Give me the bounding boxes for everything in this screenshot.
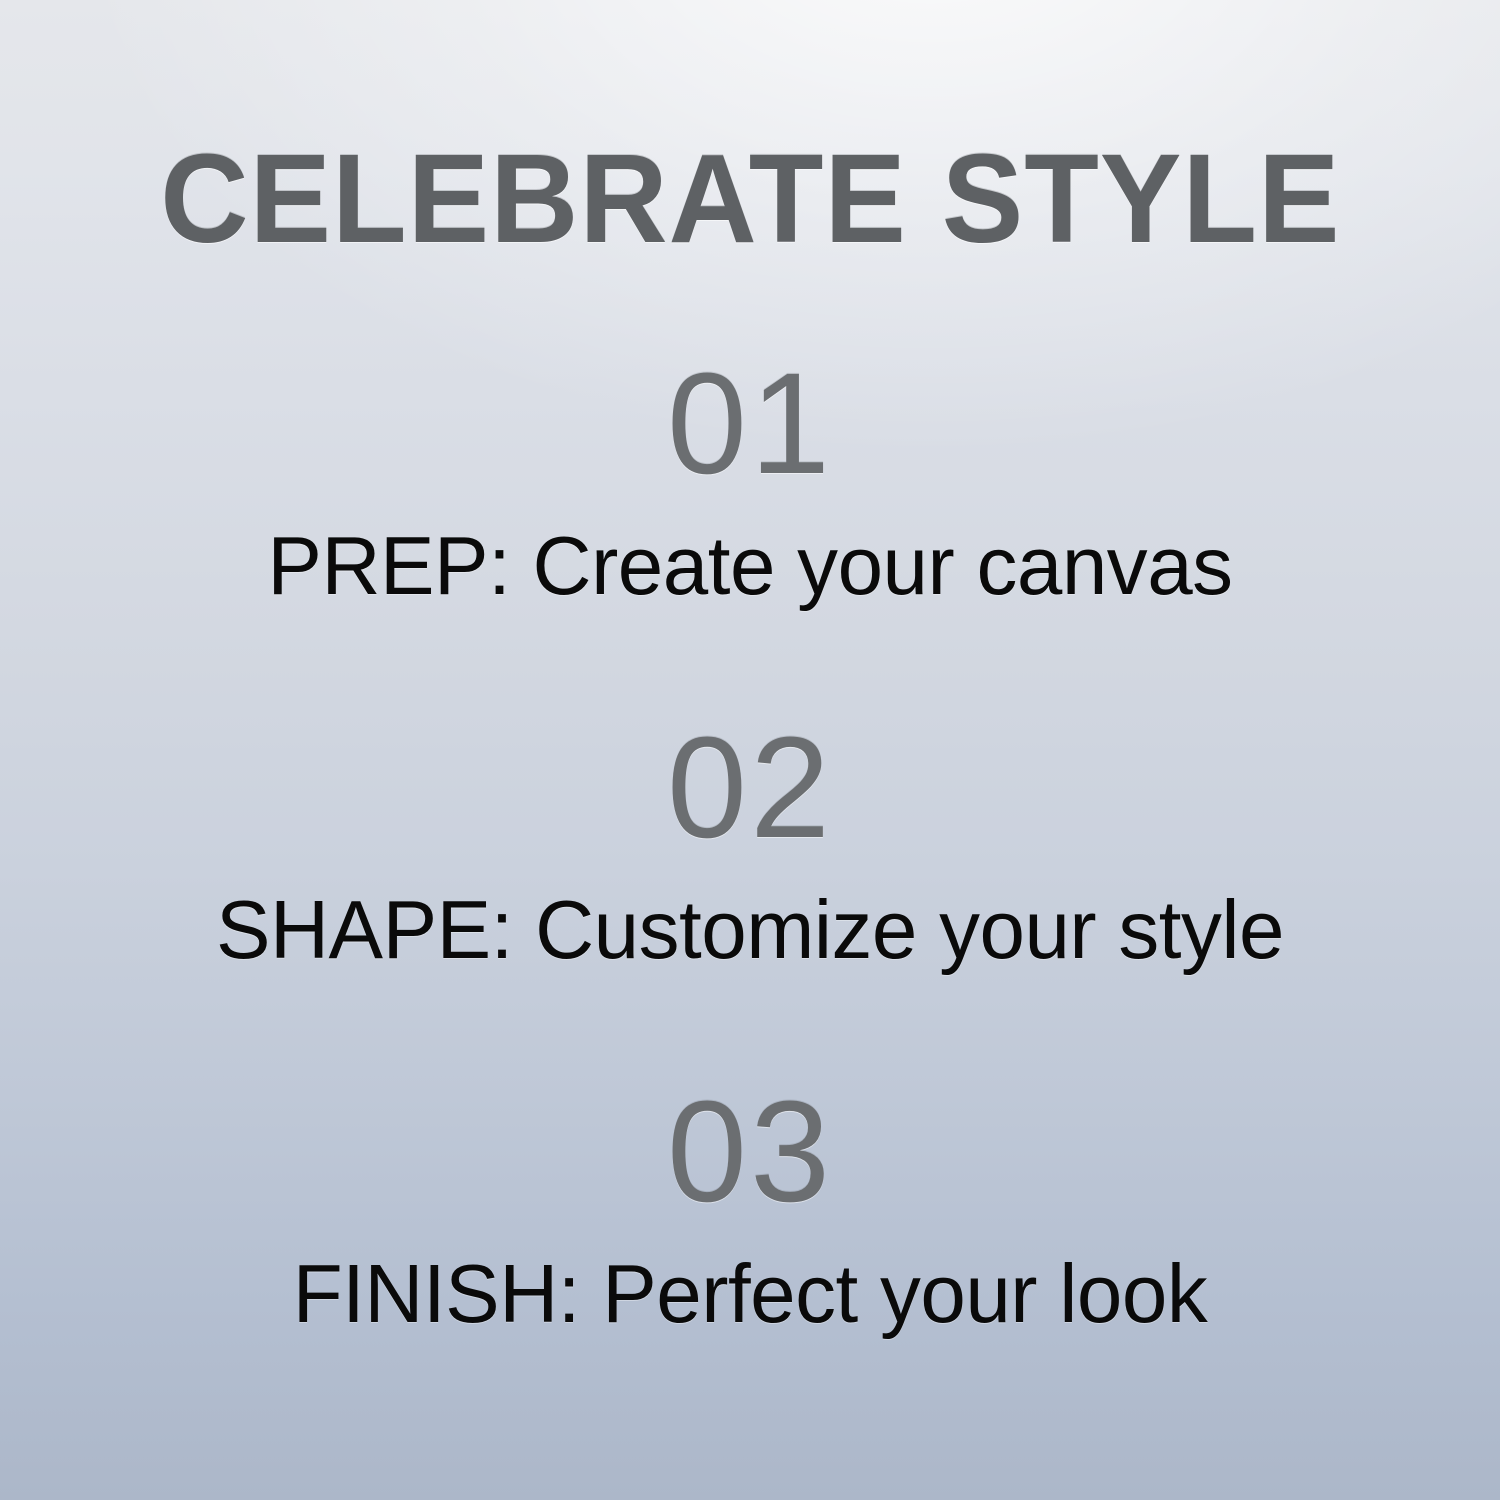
poster-canvas: CELEBRATE STYLE 01 PREP: Create your can… — [0, 0, 1500, 1500]
step-label: FINISH: Perfect your look — [11, 1250, 1489, 1337]
step-item-02: 02 SHAPE: Customize your style — [0, 716, 1500, 973]
step-label: PREP: Create your canvas — [11, 522, 1489, 609]
step-label: SHAPE: Customize your style — [11, 886, 1489, 973]
step-item-03: 03 FINISH: Perfect your look — [0, 1080, 1500, 1337]
step-number: 01 — [0, 352, 1500, 496]
step-number: 03 — [0, 1080, 1500, 1224]
title-container: CELEBRATE STYLE — [0, 136, 1500, 262]
steps-list: 01 PREP: Create your canvas 02 SHAPE: Cu… — [0, 352, 1500, 1337]
step-number: 02 — [0, 716, 1500, 860]
page-title: CELEBRATE STYLE — [160, 136, 1340, 262]
step-item-01: 01 PREP: Create your canvas — [0, 352, 1500, 609]
